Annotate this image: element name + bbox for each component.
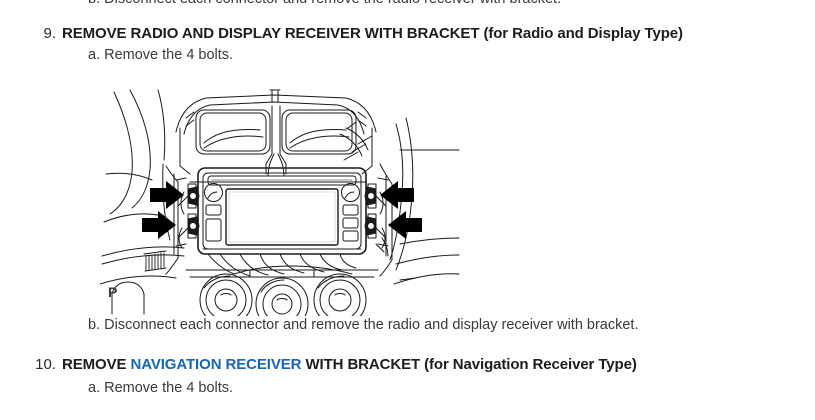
step-9-title: REMOVE RADIO AND DISPLAY RECEIVER WITH B… [62, 25, 683, 42]
step-9-heading: 9. REMOVE RADIO AND DISPLAY RECEIVER WIT… [26, 25, 683, 42]
step-10-substep-a: a. Remove the 4 bolts. [88, 380, 233, 396]
instrument-panel-drawing [100, 88, 460, 316]
step-9-number: 9. [26, 25, 56, 42]
arrow-bolt-lower-right [388, 211, 422, 239]
step-10-heading: 10. REMOVE NAVIGATION RECEIVER WITH BRAC… [26, 356, 637, 373]
step-9-substep-b: b. Disconnect each connector and remove … [88, 317, 639, 333]
figure-instrument-panel: P [100, 88, 460, 316]
step-10-title: REMOVE NAVIGATION RECEIVER WITH BRACKET … [62, 356, 637, 373]
navigation-receiver-link[interactable]: NAVIGATION RECEIVER [130, 356, 301, 373]
manual-page: b. Disconnect each connector and remove … [0, 0, 815, 420]
step-10-title-prefix: REMOVE [62, 356, 130, 373]
partial-previous-line: b. Disconnect each connector and remove … [88, 0, 561, 7]
step-10-title-suffix: WITH BRACKET (for Navigation Receiver Ty… [301, 356, 636, 373]
arrow-bolt-lower-left [142, 211, 176, 239]
step-10-number: 10. [26, 356, 56, 373]
step-9-title-text: REMOVE RADIO AND DISPLAY RECEIVER WITH B… [62, 25, 683, 42]
step-9-substep-a: a. Remove the 4 bolts. [88, 47, 233, 63]
figure-label: P [108, 284, 117, 300]
